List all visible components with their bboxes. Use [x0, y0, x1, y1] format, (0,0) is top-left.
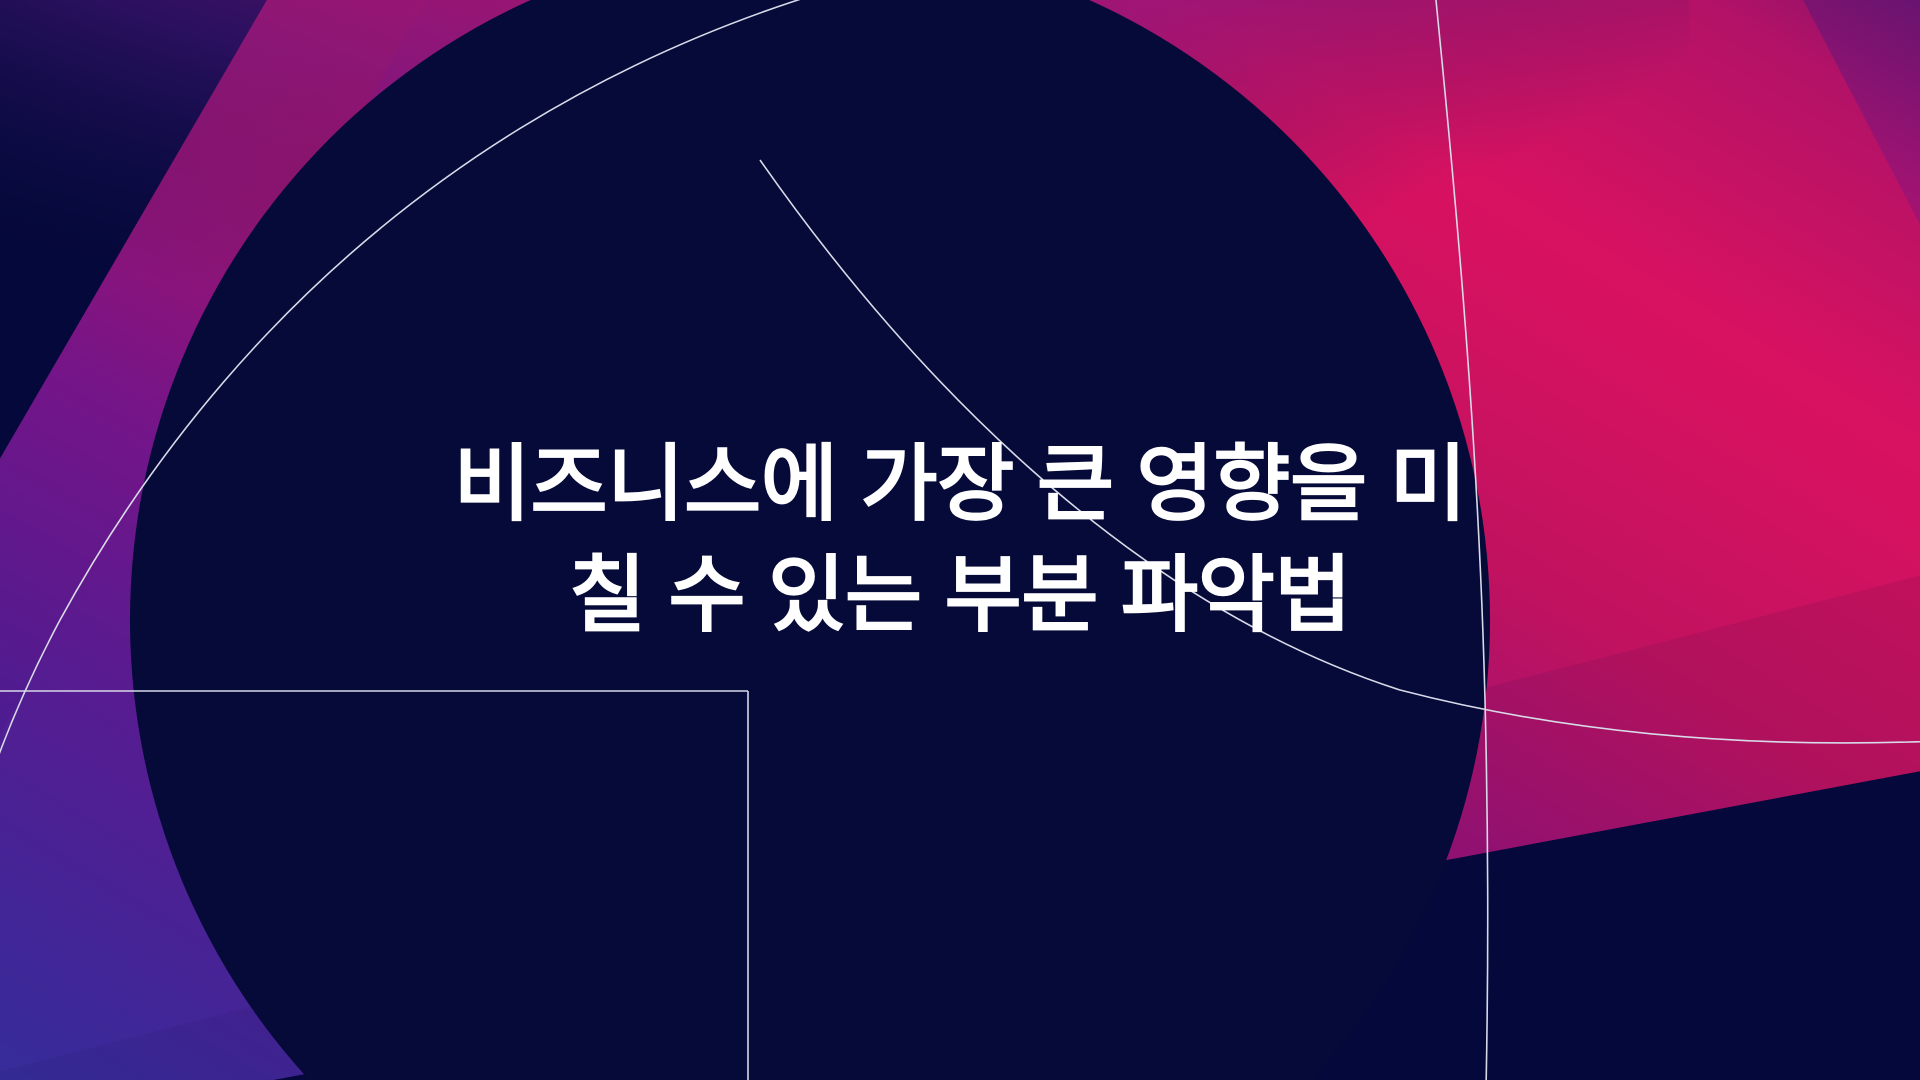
background-artwork: [0, 0, 1920, 1080]
slide-canvas: 비즈니스에 가장 큰 영향을 미 칠 수 있는 부분 파악법: [0, 0, 1920, 1080]
large-dark-circle: [130, 0, 1490, 1080]
